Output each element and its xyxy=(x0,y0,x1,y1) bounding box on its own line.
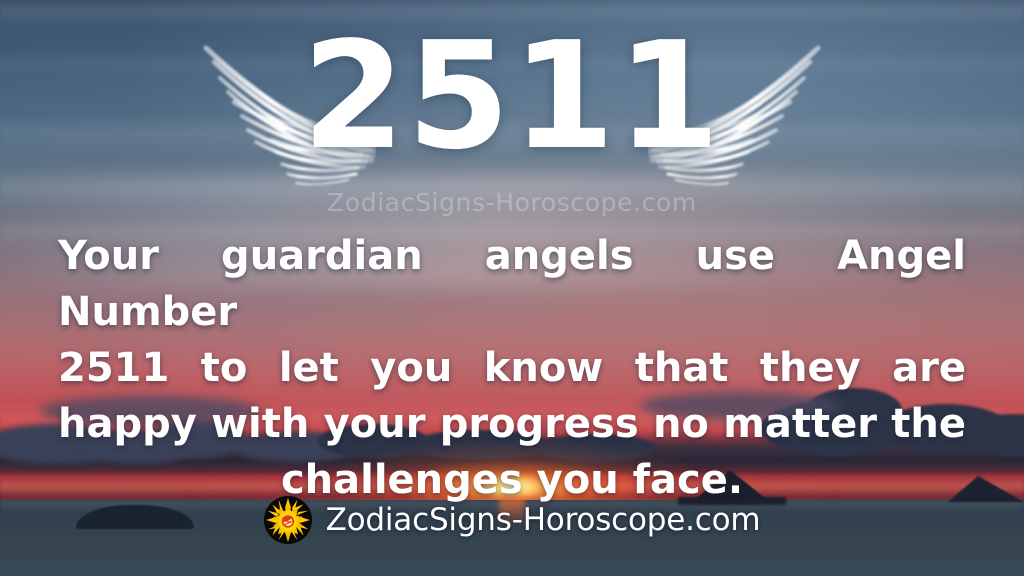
brand-name-label[interactable]: ZodiacSigns-Horoscope.com xyxy=(326,502,761,538)
sunburst-logo-icon[interactable] xyxy=(264,496,312,544)
brand-footer[interactable]: ZodiacSigns-Horoscope.com xyxy=(0,496,1024,544)
message-line-3: happy with your progress no matter the xyxy=(58,396,966,452)
angel-number-poster: 2511 ZodiacSigns-Horoscope.com Your guar… xyxy=(0,0,1024,576)
message-line-2: 2511 to let you know that they are xyxy=(58,340,966,396)
angel-number-message: Your guardian angels use Angel Number 25… xyxy=(58,228,966,508)
message-line-1: Your guardian angels use Angel Number xyxy=(58,228,966,340)
watermark-text: ZodiacSigns-Horoscope.com xyxy=(0,188,1024,217)
angel-number-heading: 2511 xyxy=(0,22,1024,170)
